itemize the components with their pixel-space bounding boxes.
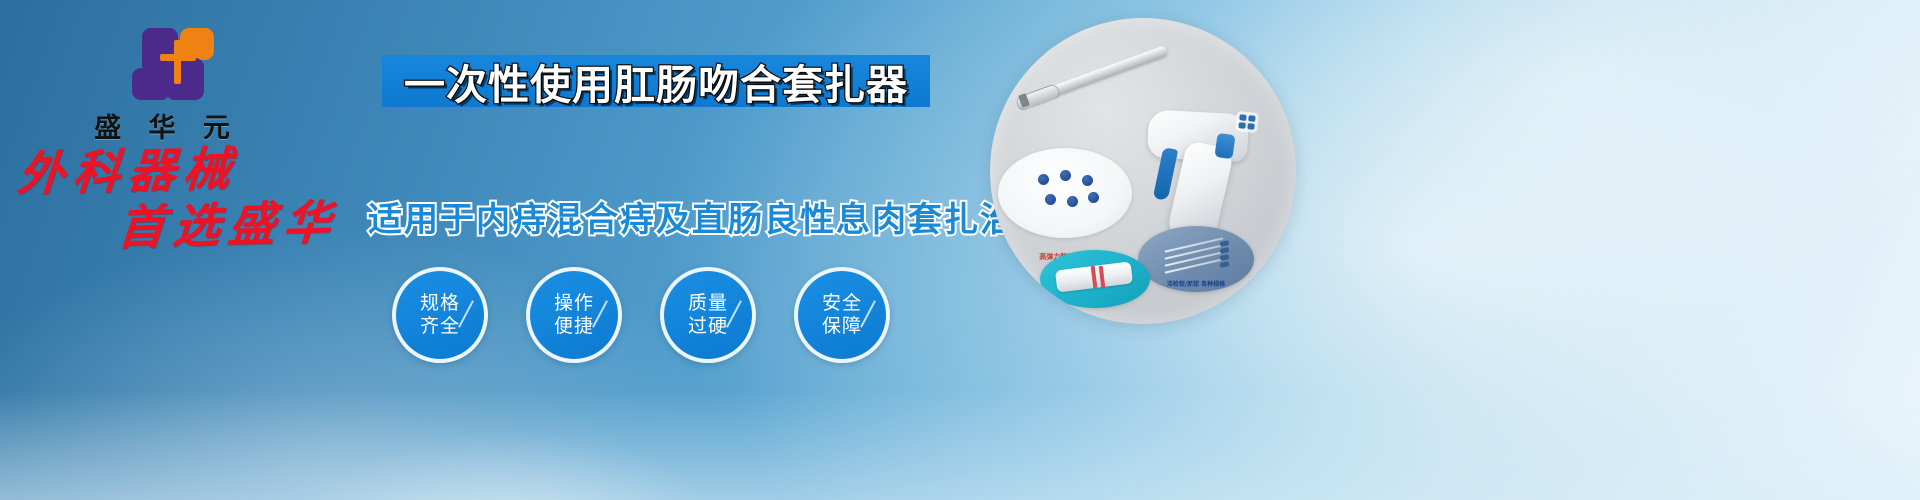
needle	[1165, 258, 1224, 273]
needle-cap	[1220, 254, 1230, 261]
feature-badge-1[interactable]: 规格 齐全	[392, 267, 488, 363]
feature-badge-3-line1: 质量	[688, 292, 728, 314]
rubber-ring-dot	[1045, 194, 1056, 205]
rubber-ring-dot	[1038, 174, 1049, 185]
rubber-ring-dot	[1082, 175, 1093, 186]
device-button	[1214, 133, 1235, 159]
device-indicator-dot	[1238, 122, 1246, 129]
background-bottom-fade	[0, 390, 1920, 500]
logo-cross-vertical	[174, 40, 181, 84]
needle-cap	[1220, 240, 1230, 247]
inset-rubber-band-rings: 高弹力胶圈 收缩更紧	[998, 148, 1132, 238]
feature-badge-4-line1: 安全	[822, 292, 862, 314]
logo-shape-right	[166, 58, 204, 100]
rubber-ring-dot	[1067, 196, 1078, 207]
device-indicator-dot	[1247, 123, 1255, 130]
feature-badge-2-line1: 操作	[554, 292, 594, 314]
main-title-band: 一次性使用肛肠吻合套扎器	[382, 55, 930, 107]
feature-badge-2[interactable]: 操作 便捷	[526, 267, 622, 363]
badge-slash-icon	[726, 300, 742, 327]
feature-badge-4[interactable]: 安全 保障	[794, 267, 890, 363]
inset-needle-instruments: 活检钳/抓钳 各种规格	[1138, 226, 1254, 292]
subtitle: 适用于内痔混合痔及直肠良性息肉套扎治疗	[368, 192, 1052, 241]
rubber-ring-dot	[1088, 192, 1099, 203]
inset-cartridge-component	[1040, 250, 1150, 308]
logo-cross-horizontal	[160, 54, 196, 61]
badge-slash-icon	[458, 300, 474, 327]
feature-badge-3[interactable]: 质量 过硬	[660, 267, 756, 363]
device-indicator-panel	[1235, 111, 1259, 133]
logo-shape-bottom	[132, 68, 170, 100]
brand-logo[interactable]: 盛 华 元	[72, 24, 252, 145]
device-indicator-dot	[1239, 114, 1247, 121]
inset-needle-caption: 活检钳/抓钳 各种规格	[1138, 279, 1254, 288]
calligraphy-slogan: 外科器械 首选盛华	[18, 146, 358, 252]
product-photo[interactable]: 高弹力胶圈 收缩更紧 活检钳/抓钳 各种规格	[990, 18, 1296, 324]
slogan-line-2: 首选盛华	[116, 198, 361, 255]
feature-badges: 规格 齐全 操作 便捷 质量 过硬 安全 保障	[392, 267, 890, 363]
shenghuayuan-logo-mark-icon	[118, 24, 206, 100]
slogan-line-1: 外科器械	[16, 142, 361, 202]
rubber-ring-dot	[1060, 170, 1071, 181]
page-title: 一次性使用肛肠吻合套扎器	[404, 51, 908, 111]
product-banner: 盛 华 元 外科器械 首选盛华 一次性使用肛肠吻合套扎器 适用于内痔混合痔及直肠…	[0, 0, 1920, 500]
brand-name: 盛 华 元	[72, 106, 252, 145]
needle-cap	[1220, 247, 1230, 254]
badge-slash-icon	[592, 300, 608, 327]
feature-badge-3-line2: 过硬	[688, 315, 728, 337]
feature-badge-1-line2: 齐全	[420, 315, 460, 337]
device-indicator-dot	[1248, 115, 1256, 122]
background-arc	[300, 430, 720, 500]
feature-badge-4-line2: 保障	[822, 315, 862, 337]
needle-cap	[1220, 261, 1230, 268]
feature-badge-2-line2: 便捷	[554, 315, 594, 337]
feature-badge-1-line1: 规格	[420, 292, 460, 314]
badge-slash-icon	[860, 300, 876, 327]
